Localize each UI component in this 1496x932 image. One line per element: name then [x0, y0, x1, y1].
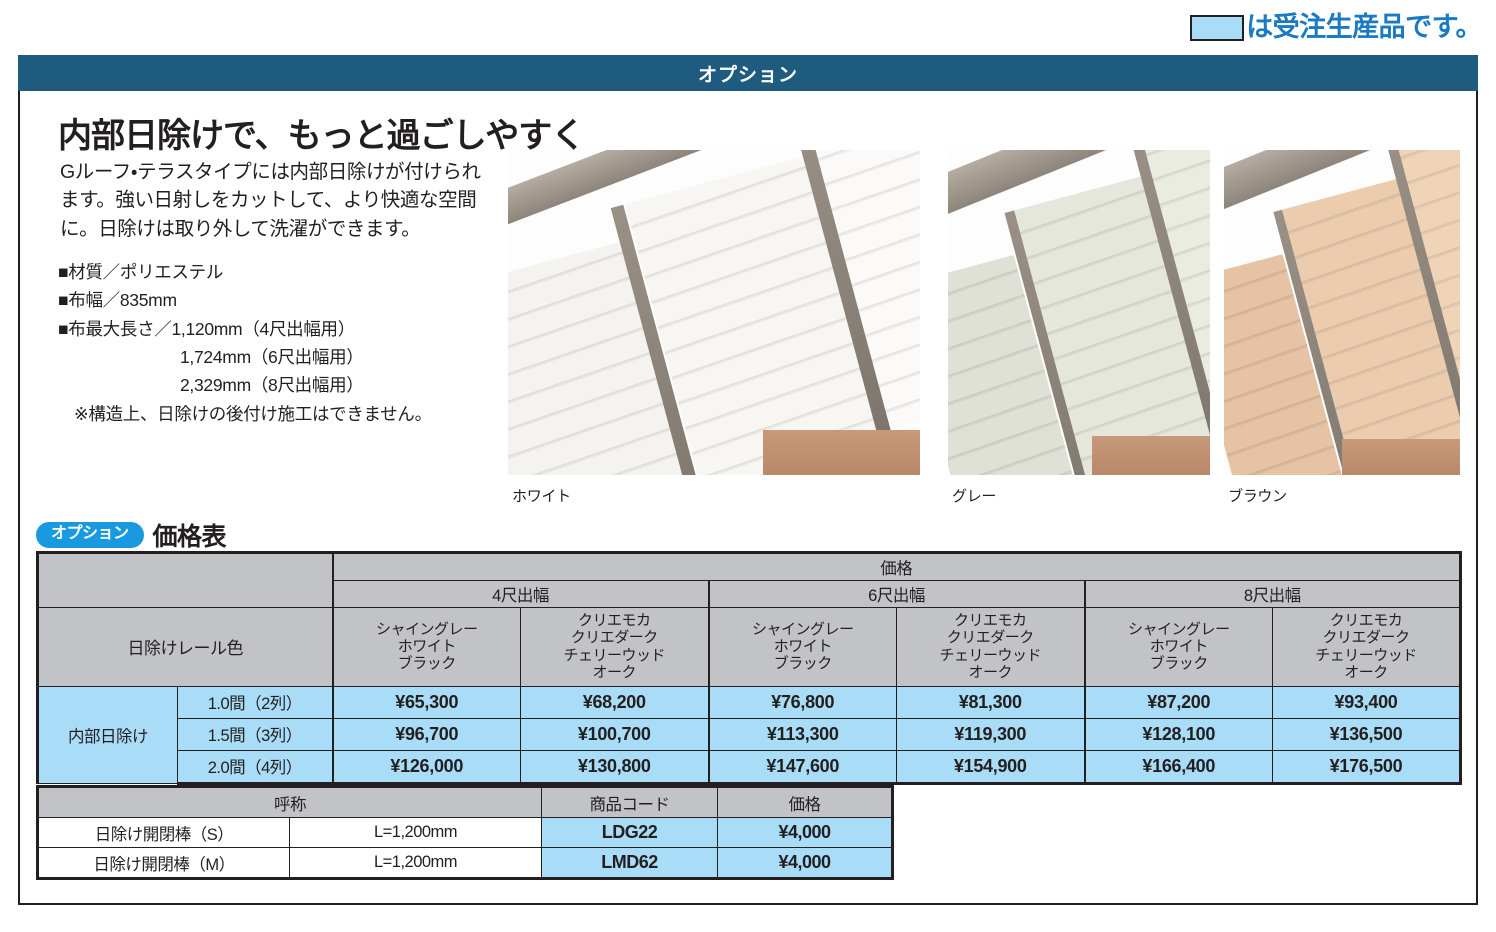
photo-caption-grey: グレー [952, 485, 996, 506]
table-row: 日除け開閉棒（S） L=1,200mm LDG22 ¥4,000 [38, 818, 893, 848]
width-group-8: 8尺出幅 [1085, 581, 1461, 608]
spec-item-cloth-length: ■布最大長さ／1,120mm（4尺出幅用） [58, 315, 432, 343]
code-row-code: LMD62 [542, 848, 718, 879]
code-header-code: 商品コード [542, 787, 718, 818]
code-row-name: 日除け開閉棒（S） [38, 818, 290, 848]
price-cell: ¥154,900 [897, 750, 1085, 783]
price-cell: ¥113,300 [709, 718, 897, 750]
price-cell: ¥136,500 [1273, 718, 1461, 750]
photo-caption-white: ホワイト [512, 485, 571, 506]
width-group-4: 4尺出幅 [333, 581, 709, 608]
photo-brown-canopy [1224, 150, 1460, 475]
option-banner: オプション [18, 55, 1478, 91]
color-set-b-text: クリエモカ クリエダーク チェリーウッド オーク [563, 612, 665, 681]
table-row: 内部日除け 1.0間（2列） ¥65,300 ¥68,200 ¥76,800 ¥… [38, 686, 1461, 718]
page-title: 内部日除けで、もっと過ごしやすく [58, 108, 584, 157]
price-cell: ¥128,100 [1085, 718, 1273, 750]
photo-grey-wall [1092, 436, 1210, 475]
photo-grey-canopy [948, 150, 1210, 475]
price-cell: ¥130,800 [521, 750, 709, 783]
price-cell: ¥93,400 [1273, 686, 1461, 718]
spec-note: ※構造上、日除けの後付け施工はできません。 [58, 400, 432, 428]
price-cell: ¥81,300 [897, 686, 1085, 718]
price-cell: ¥176,500 [1273, 750, 1461, 783]
photo-grey [948, 150, 1210, 475]
code-row-name: 日除け開閉棒（M） [38, 848, 290, 879]
photo-white-wall [763, 430, 920, 476]
rail-color-header: 日除けレール色 [38, 608, 333, 687]
price-cell: ¥96,700 [333, 718, 521, 750]
price-section-title-text: 価格表 [153, 517, 227, 553]
price-table-blank-corner [38, 553, 333, 608]
color-set-b: クリエモカ クリエダーク チェリーウッド オーク [1273, 608, 1461, 687]
color-set-a: シャイングレー ホワイト ブラック [1085, 608, 1273, 687]
made-to-order-swatch-icon [1190, 15, 1244, 41]
spec-item-cloth-length-8: 2,329mm（8尺出幅用） [58, 371, 432, 399]
product-code-table: 呼称 商品コード 価格 日除け開閉棒（S） L=1,200mm LDG22 ¥4… [36, 785, 894, 880]
photo-white-canopy [508, 150, 920, 475]
code-header-name: 呼称 [38, 787, 542, 818]
row-size-label: 2.0間（4列） [178, 750, 333, 783]
color-set-a-text: シャイングレー ホワイト ブラック [376, 621, 478, 673]
price-cell: ¥119,300 [897, 718, 1085, 750]
table-row: 1.5間（3列） ¥96,700 ¥100,700 ¥113,300 ¥119,… [38, 718, 1461, 750]
spec-item-cloth-length-6: 1,724mm（6尺出幅用） [58, 343, 432, 371]
table-row: 2.0間（4列） ¥126,000 ¥130,800 ¥147,600 ¥154… [38, 750, 1461, 783]
table-row: 日除け開閉棒（M） L=1,200mm LMD62 ¥4,000 [38, 848, 893, 879]
code-row-length: L=1,200mm [290, 818, 542, 848]
row-group-label: 内部日除け [38, 686, 178, 783]
price-table: 価格 4尺出幅 6尺出幅 8尺出幅 日除けレール色 シャイングレー ホワイト ブ… [36, 551, 1462, 785]
color-set-b: クリエモカ クリエダーク チェリーウッド オーク [521, 608, 709, 687]
made-to-order-note-text: は受注生産品です。 [1246, 14, 1482, 41]
color-set-b-text: クリエモカ クリエダーク チェリーウッド オーク [1315, 612, 1417, 681]
row-size-label: 1.5間（3列） [178, 718, 333, 750]
price-cell: ¥76,800 [709, 686, 897, 718]
price-cell: ¥166,400 [1085, 750, 1273, 783]
code-row-length: L=1,200mm [290, 848, 542, 879]
spec-list: ■材質／ポリエステル ■布幅／835mm ■布最大長さ／1,120mm（4尺出幅… [58, 258, 432, 428]
photo-white [508, 150, 920, 475]
option-pill-badge: オプション [36, 522, 144, 547]
code-row-price: ¥4,000 [718, 848, 893, 879]
price-group-header: 価格 [333, 553, 1461, 581]
spec-item-cloth-width: ■布幅／835mm [58, 286, 432, 314]
color-set-b: クリエモカ クリエダーク チェリーウッド オーク [897, 608, 1085, 687]
photo-caption-brown: ブラウン [1228, 485, 1287, 506]
color-set-a-text: シャイングレー ホワイト ブラック [752, 621, 854, 673]
code-header-price: 価格 [718, 787, 893, 818]
photo-brown-wall [1342, 439, 1460, 475]
spec-item-material: ■材質／ポリエステル [58, 258, 432, 286]
price-cell: ¥65,300 [333, 686, 521, 718]
color-set-a-text: シャイングレー ホワイト ブラック [1128, 621, 1230, 673]
price-cell: ¥126,000 [333, 750, 521, 783]
code-row-code: LDG22 [542, 818, 718, 848]
price-section-title: オプション 価格表 [36, 517, 226, 553]
intro-paragraph: Gルーフ・テラスタイプには内部日除けが付けられます。強い日射しをカットして、より… [60, 158, 492, 243]
color-set-b-text: クリエモカ クリエダーク チェリーウッド オーク [939, 612, 1041, 681]
color-set-a: シャイングレー ホワイト ブラック [333, 608, 521, 687]
price-cell: ¥100,700 [521, 718, 709, 750]
price-cell: ¥68,200 [521, 686, 709, 718]
made-to-order-note: は受注生産品です。 [1190, 14, 1482, 41]
price-cell: ¥87,200 [1085, 686, 1273, 718]
photo-brown [1224, 150, 1460, 475]
price-cell: ¥147,600 [709, 750, 897, 783]
color-set-a: シャイングレー ホワイト ブラック [709, 608, 897, 687]
code-row-price: ¥4,000 [718, 818, 893, 848]
row-size-label: 1.0間（2列） [178, 686, 333, 718]
option-banner-title: オプション [698, 60, 798, 87]
width-group-6: 6尺出幅 [709, 581, 1085, 608]
